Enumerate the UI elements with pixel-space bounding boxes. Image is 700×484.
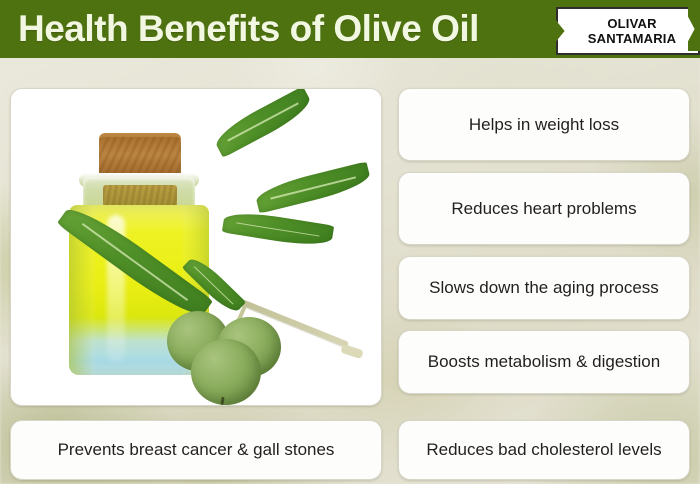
olive-branch-tip — [340, 344, 364, 359]
brand-line-1: OLIVAR — [588, 16, 676, 31]
benefit-card-breast-cancer-gall-stones[interactable]: Prevents breast cancer & gall stones — [10, 420, 382, 480]
brand-line-2: SANTAMARIA — [588, 31, 676, 46]
olive-leaf-icon — [222, 209, 334, 250]
benefit-card-aging-process[interactable]: Slows down the aging process — [398, 256, 690, 320]
benefit-label: Slows down the aging process — [399, 278, 689, 298]
benefit-label: Prevents breast cancer & gall stones — [11, 440, 381, 460]
brand-name: OLIVAR SANTAMARIA — [580, 16, 676, 46]
olive-oil-image-card — [10, 88, 382, 406]
benefit-label: Boosts metabolism & digestion — [399, 352, 689, 372]
olive-oil-benefits-infographic: Health Benefits of Olive Oil OLIVAR SANT… — [0, 0, 700, 484]
olive-fruit — [191, 339, 261, 405]
olive-leaf-icon — [254, 161, 373, 213]
benefit-card-metabolism-digestion[interactable]: Boosts metabolism & digestion — [398, 330, 690, 394]
benefit-card-weight-loss[interactable]: Helps in weight loss — [398, 88, 690, 161]
olive-leaf-icon — [211, 88, 315, 158]
cork-inner-plug — [103, 185, 177, 207]
benefit-label: Helps in weight loss — [399, 115, 689, 135]
benefit-card-heart-problems[interactable]: Reduces heart problems — [398, 172, 690, 245]
benefit-label: Reduces bad cholesterol levels — [399, 440, 689, 460]
brand-badge: OLIVAR SANTAMARIA — [556, 7, 700, 55]
olive-oil-photo — [11, 89, 381, 405]
benefit-card-cholesterol[interactable]: Reduces bad cholesterol levels — [398, 420, 690, 480]
page-title: Health Benefits of Olive Oil — [18, 6, 479, 52]
benefit-label: Reduces heart problems — [399, 199, 689, 219]
